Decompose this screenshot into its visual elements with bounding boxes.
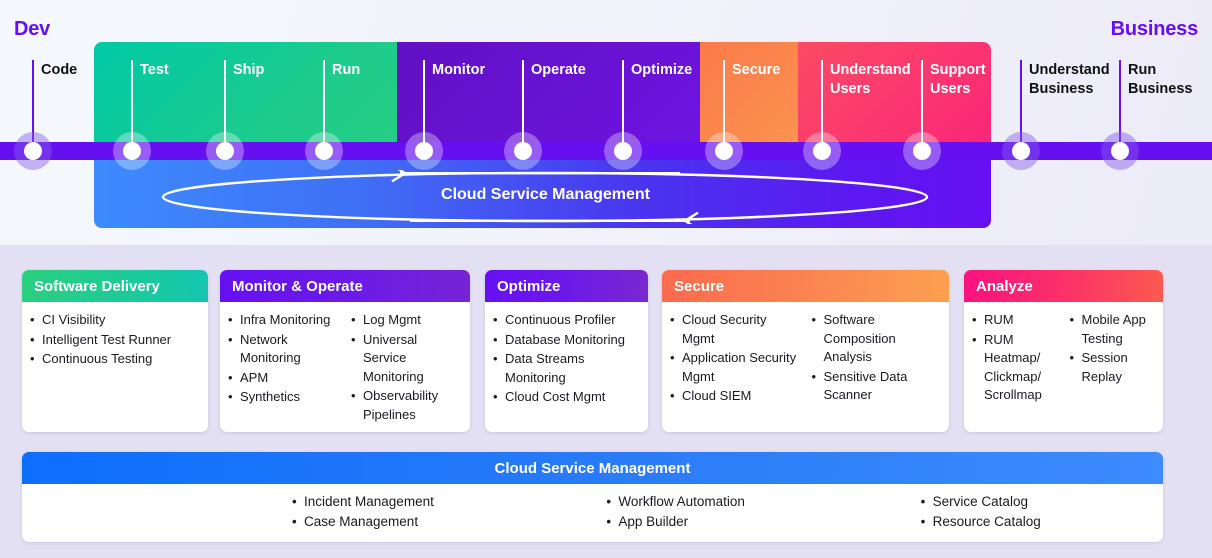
card-body: Continuous ProfilerDatabase MonitoringDa…	[485, 302, 648, 416]
stage-node[interactable]	[803, 132, 841, 170]
list-item: RUM Heatmap/ Clickmap/ Scrollmap	[970, 331, 1060, 405]
feature-list: Software Composition AnalysisSensitive D…	[810, 311, 944, 405]
list-item: Infra Monitoring	[226, 311, 341, 330]
stage-node[interactable]	[1101, 132, 1139, 170]
card-secure[interactable]: Secure Cloud Security MgmtApplication Se…	[662, 270, 949, 432]
stage-label: Understand Users	[830, 61, 911, 99]
card-optimize[interactable]: Optimize Continuous ProfilerDatabase Mon…	[485, 270, 648, 432]
list-item: Software Composition Analysis	[810, 311, 944, 367]
card-title: Secure	[662, 270, 949, 302]
card-column: Software Composition AnalysisSensitive D…	[810, 311, 944, 407]
cloud-service-loop-arrow	[160, 170, 930, 224]
list-item: Continuous Profiler	[491, 311, 642, 330]
list-item: Universal Service Monitoring	[349, 331, 464, 387]
list-item: Mobile App Testing	[1068, 311, 1158, 348]
stage-label: Ship	[233, 61, 264, 80]
feature-list: Service CatalogResource Catalog	[919, 492, 1163, 531]
card-column: Infra MonitoringNetwork MonitoringAPMSyn…	[226, 311, 341, 425]
list-item: APM	[226, 369, 341, 388]
card-column: Workflow AutomationApp Builder	[604, 492, 848, 532]
stage-node[interactable]	[1002, 132, 1040, 170]
stage-node[interactable]	[305, 132, 343, 170]
card-column: Continuous ProfilerDatabase MonitoringDa…	[491, 311, 642, 408]
stage-label: Operate	[531, 61, 586, 80]
list-item: Synthetics	[226, 388, 341, 407]
feature-list: Workflow AutomationApp Builder	[604, 492, 848, 531]
card-software-delivery[interactable]: Software Delivery CI VisibilityIntellige…	[22, 270, 208, 432]
timeline-section: Dev Business CodeTestShipRunMonitorOpera…	[0, 0, 1212, 245]
feature-list: Log MgmtUniversal Service MonitoringObse…	[349, 311, 464, 424]
list-item: App Builder	[604, 512, 848, 531]
feature-list: Infra MonitoringNetwork MonitoringAPMSyn…	[226, 311, 341, 407]
card-body: Infra MonitoringNetwork MonitoringAPMSyn…	[220, 302, 470, 432]
list-item: Resource Catalog	[919, 512, 1163, 531]
list-item: Session Replay	[1068, 349, 1158, 386]
stage-node[interactable]	[604, 132, 642, 170]
list-item: Cloud Security Mgmt	[668, 311, 802, 348]
card-body: Cloud Security MgmtApplication Security …	[662, 302, 949, 415]
list-item: Service Catalog	[919, 492, 1163, 511]
list-item: CI Visibility	[28, 311, 202, 330]
list-item: Case Management	[290, 512, 534, 531]
list-item: Database Monitoring	[491, 331, 642, 350]
stage-label: Test	[140, 61, 169, 80]
feature-list: Incident ManagementCase Management	[290, 492, 534, 531]
stage-label: Understand Business	[1029, 61, 1110, 99]
csm-title: Cloud Service Management	[22, 452, 1163, 484]
stage-node[interactable]	[113, 132, 151, 170]
stage-node[interactable]	[14, 132, 52, 170]
card-column: CI VisibilityIntelligent Test RunnerCont…	[28, 311, 202, 370]
list-item: Network Monitoring	[226, 331, 341, 368]
list-item: Workflow Automation	[604, 492, 848, 511]
stage-node[interactable]	[903, 132, 941, 170]
stage-node[interactable]	[405, 132, 443, 170]
card-column: Cloud Security MgmtApplication Security …	[668, 311, 802, 407]
card-title: Software Delivery	[22, 270, 208, 302]
list-item: RUM	[970, 311, 1060, 330]
card-title: Optimize	[485, 270, 648, 302]
card-column: Log MgmtUniversal Service MonitoringObse…	[349, 311, 464, 425]
stage-label: Support Users	[930, 61, 986, 99]
list-item: Data Streams Monitoring	[491, 350, 642, 387]
card-body: RUMRUM Heatmap/ Clickmap/ ScrollmapMobil…	[964, 302, 1163, 414]
stage-label: Monitor	[432, 61, 485, 80]
card-column: Mobile App TestingSession Replay	[1068, 311, 1158, 406]
card-column: RUMRUM Heatmap/ Clickmap/ Scrollmap	[970, 311, 1060, 406]
card-column: Service CatalogResource Catalog	[919, 492, 1163, 532]
card-cloud-service-management[interactable]: Cloud Service Management Incident Manage…	[22, 452, 1163, 542]
stage-node[interactable]	[206, 132, 244, 170]
card-column: Incident ManagementCase Management	[290, 492, 534, 532]
dev-label: Dev	[14, 18, 50, 41]
feature-list: Cloud Security MgmtApplication Security …	[668, 311, 802, 406]
stage-label: Secure	[732, 61, 780, 80]
stage-label: Code	[41, 61, 77, 80]
business-label: Business	[1111, 18, 1198, 41]
stage-label: Optimize	[631, 61, 692, 80]
csm-body: Incident ManagementCase ManagementWorkfl…	[22, 484, 1163, 532]
feature-list: CI VisibilityIntelligent Test RunnerCont…	[28, 311, 202, 369]
stage-node[interactable]	[504, 132, 542, 170]
feature-list: Mobile App TestingSession Replay	[1068, 311, 1158, 386]
list-item: Sensitive Data Scanner	[810, 368, 944, 405]
stage-label: Run Business	[1128, 61, 1192, 99]
list-item: Log Mgmt	[349, 311, 464, 330]
card-monitor-operate[interactable]: Monitor & Operate Infra MonitoringNetwor…	[220, 270, 470, 432]
card-analyze[interactable]: Analyze RUMRUM Heatmap/ Clickmap/ Scroll…	[964, 270, 1163, 432]
list-item: Observability Pipelines	[349, 387, 464, 424]
list-item: Continuous Testing	[28, 350, 202, 369]
card-title: Analyze	[964, 270, 1163, 302]
card-body: CI VisibilityIntelligent Test RunnerCont…	[22, 302, 208, 378]
stage-label: Run	[332, 61, 360, 80]
list-item: Intelligent Test Runner	[28, 331, 202, 350]
stage-node[interactable]	[705, 132, 743, 170]
list-item: Application Security Mgmt	[668, 349, 802, 386]
card-title: Monitor & Operate	[220, 270, 470, 302]
list-item: Incident Management	[290, 492, 534, 511]
feature-list: RUMRUM Heatmap/ Clickmap/ Scrollmap	[970, 311, 1060, 405]
list-item: Cloud SIEM	[668, 387, 802, 406]
feature-list: Continuous ProfilerDatabase MonitoringDa…	[491, 311, 642, 407]
list-item: Cloud Cost Mgmt	[491, 388, 642, 407]
